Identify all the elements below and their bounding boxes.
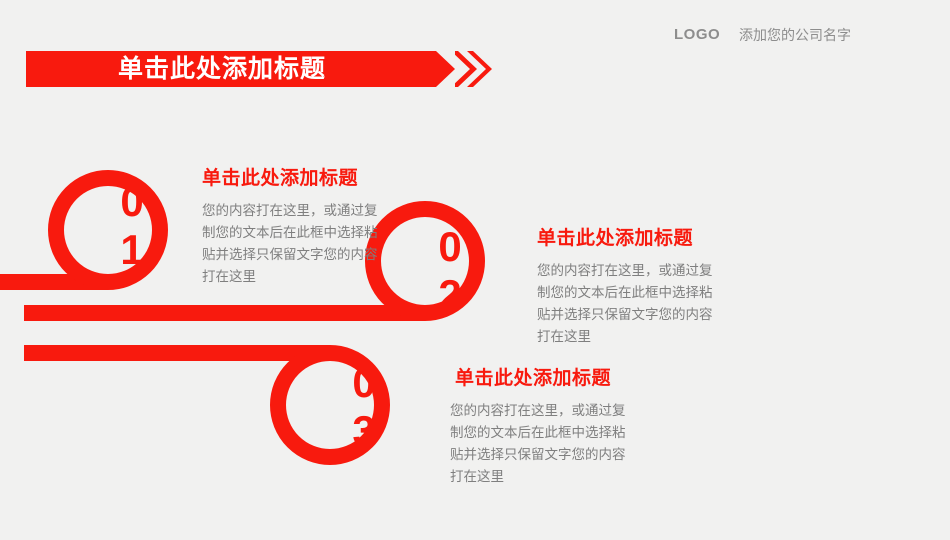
step-number-02: 0 2 bbox=[421, 226, 479, 316]
content-block-02-heading: 单击此处添加标题 bbox=[537, 226, 713, 252]
banner-chevron-icons bbox=[455, 51, 500, 87]
content-block-01-heading: 单击此处添加标题 bbox=[202, 166, 378, 192]
slide-canvas: LOGO 添加您的公司名字 单击此处添加标题 bbox=[0, 0, 950, 535]
step-number-01-digit-bottom: 1 bbox=[103, 229, 161, 271]
content-block-03-heading: 单击此处添加标题 bbox=[455, 366, 626, 392]
step-number-03-digit-bottom: 3 bbox=[335, 410, 393, 452]
content-block-01: 单击此处添加标题 您的内容打在这里，或通过复制您的文本后在此框中选择粘贴并选择只… bbox=[202, 166, 378, 288]
step-number-01: 0 1 bbox=[103, 181, 161, 271]
step-number-01-digit-top: 0 bbox=[103, 181, 161, 223]
step-number-02-digit-bottom: 2 bbox=[421, 274, 479, 316]
company-name-placeholder: 添加您的公司名字 bbox=[739, 25, 851, 45]
page-title: 单击此处添加标题 bbox=[118, 53, 326, 86]
content-block-02: 单击此处添加标题 您的内容打在这里，或通过复制您的文本后在此框中选择粘贴并选择只… bbox=[537, 226, 713, 348]
step-number-03-digit-top: 0 bbox=[335, 362, 393, 404]
slide-header: LOGO 添加您的公司名字 bbox=[0, 25, 950, 49]
logo-placeholder: LOGO bbox=[674, 25, 720, 45]
content-block-02-body: 您的内容打在这里，或通过复制您的文本后在此框中选择粘贴并选择只保留文字您的内容打… bbox=[537, 260, 713, 348]
content-block-01-body: 您的内容打在这里，或通过复制您的文本后在此框中选择粘贴并选择只保留文字您的内容打… bbox=[202, 200, 378, 288]
step-number-02-digit-top: 0 bbox=[421, 226, 479, 268]
content-block-03-body: 您的内容打在这里，或通过复制您的文本后在此框中选择粘贴并选择只保留文字您的内容打… bbox=[450, 400, 626, 488]
step-number-03: 0 3 bbox=[335, 362, 393, 452]
content-block-03: 单击此处添加标题 您的内容打在这里，或通过复制您的文本后在此框中选择粘贴并选择只… bbox=[450, 366, 626, 488]
